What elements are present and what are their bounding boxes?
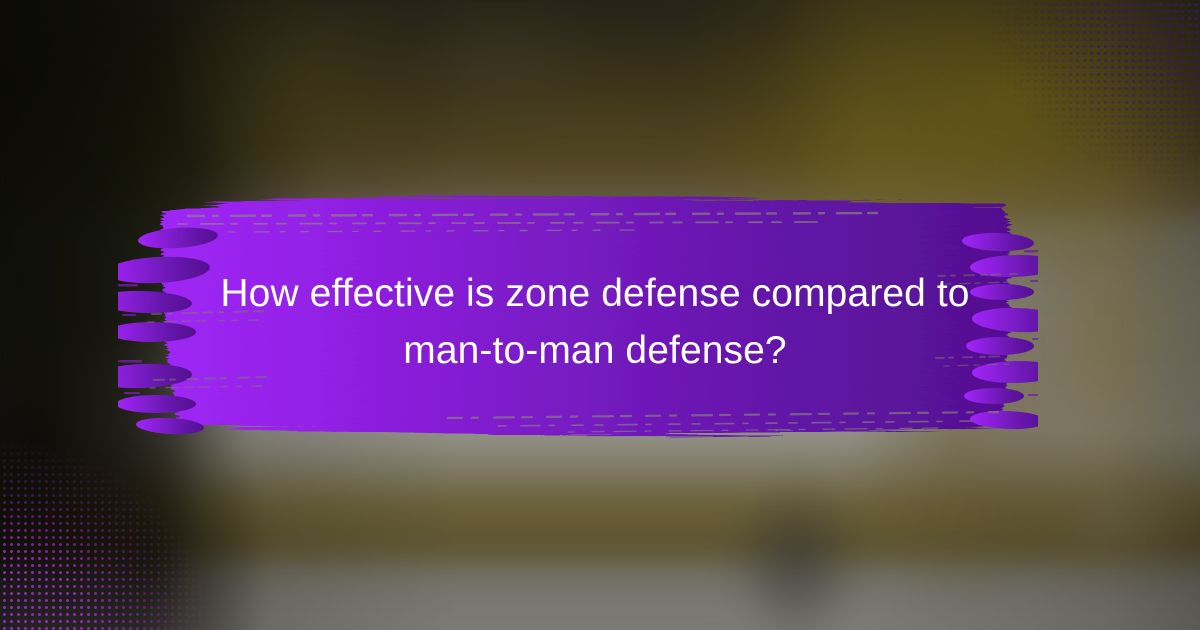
halftone-dots-top-right-icon [976,0,1200,194]
banner-canvas: How effective is zone defense compared t… [0,0,1200,630]
page-title: How effective is zone defense compared t… [170,265,1020,379]
halftone-dots-bottom-left-icon [0,436,224,630]
